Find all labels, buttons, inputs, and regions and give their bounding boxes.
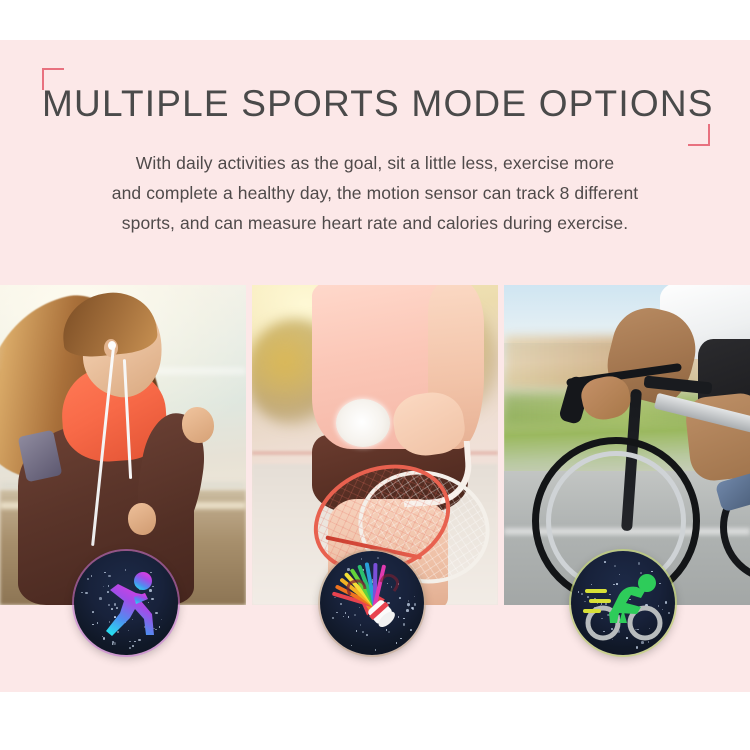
runner-icon [74,551,178,655]
cyclist-icon [571,551,675,655]
corner-bracket-top-left-icon [42,68,64,90]
page-subtitle: With daily activities as the goal, sit a… [38,148,712,238]
header-section: MULTIPLE SPORTS MODE OPTIONS With daily … [0,40,750,285]
page-root: MULTIPLE SPORTS MODE OPTIONS With daily … [0,0,750,750]
subtitle-line-1: With daily activities as the goal, sit a… [38,148,712,178]
corner-bracket-bottom-right-icon [688,124,710,146]
badminton-badge[interactable]: Badminton [320,551,424,655]
running-badge[interactable]: Running [74,551,178,655]
subtitle-line-2: and complete a healthy day, the motion s… [38,178,712,208]
shuttlecock-icon [320,551,424,655]
cycling-badge[interactable]: Cycling [571,551,675,655]
title-block: MULTIPLE SPORTS MODE OPTIONS [42,76,710,132]
page-title: MULTIPLE SPORTS MODE OPTIONS [42,76,710,132]
subtitle-line-3: sports, and can measure heart rate and c… [38,208,712,238]
